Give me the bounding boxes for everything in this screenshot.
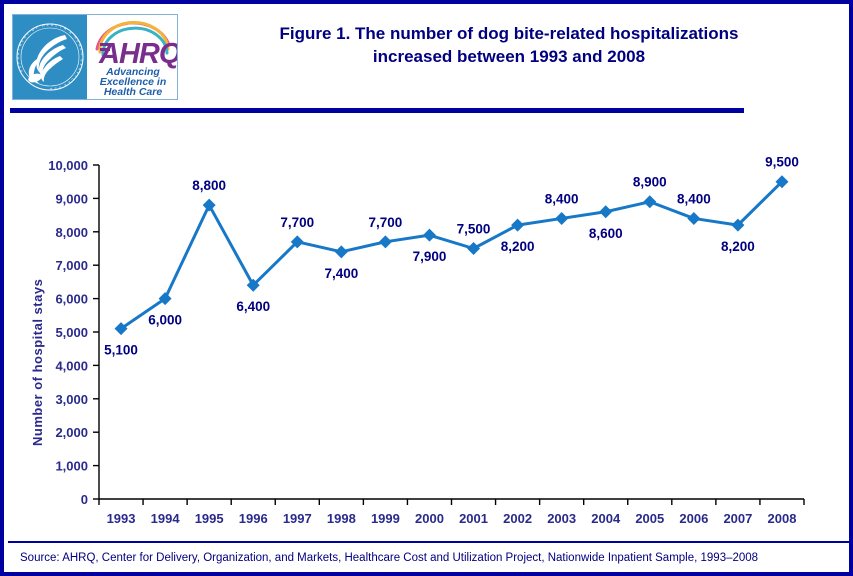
data-point-label: 8,400 <box>545 191 579 206</box>
y-axis-tick-label: 7,000 <box>55 258 88 273</box>
data-point-label: 6,000 <box>148 313 182 328</box>
data-point-marker[interactable] <box>643 195 656 208</box>
data-point-marker[interactable] <box>687 212 700 225</box>
x-axis-tick-label: 2005 <box>635 511 664 526</box>
x-axis-tick-label: 2004 <box>591 511 621 526</box>
data-point-label: 6,400 <box>236 299 270 314</box>
y-axis-tick-label: 6,000 <box>55 292 88 307</box>
data-point-marker[interactable] <box>335 245 348 258</box>
y-axis-tick-label: 9,000 <box>55 191 88 206</box>
data-point-label: 8,400 <box>677 191 711 206</box>
svg-text:Health Care: Health Care <box>104 86 163 98</box>
figure-header: D E P A R T M E N T O F H E A <box>4 4 849 104</box>
data-point-marker[interactable] <box>203 199 216 212</box>
svg-text:R: R <box>16 52 20 55</box>
svg-text:L: L <box>55 24 58 28</box>
x-axis-tick-label: 2001 <box>459 511 488 526</box>
data-point-label: 8,800 <box>192 178 226 193</box>
svg-text:E: E <box>67 80 71 85</box>
x-axis-tick-label: 1994 <box>151 511 181 526</box>
y-axis-tick-labels: 01,0002,0003,0004,0005,0006,0007,0008,00… <box>48 158 99 507</box>
hhs-seal-icon: D E P A R T M E N T O F H E A <box>13 15 87 99</box>
series-data-labels: 5,1006,0008,8006,4007,7007,4007,7007,900… <box>104 155 799 358</box>
x-axis-tick-label: 2008 <box>768 511 797 526</box>
svg-text:A: A <box>51 23 54 27</box>
y-axis-tick-label: 0 <box>81 492 88 507</box>
svg-text:E: E <box>79 63 83 66</box>
data-point-label: 8,600 <box>589 226 623 241</box>
x-axis-tick-labels: 1993199419951996199719981999200020012002… <box>99 499 804 526</box>
y-axis-tick-label: 4,000 <box>55 358 88 373</box>
figure-title: Figure 1. The number of dog bite-related… <box>194 22 824 68</box>
data-point-label: 8,900 <box>633 175 667 190</box>
line-chart: Number of hospital stays 01,0002,0003,00… <box>4 116 849 536</box>
x-axis-tick-label: 1997 <box>283 511 312 526</box>
svg-text:T: T <box>59 25 62 29</box>
svg-text:E: E <box>46 23 49 27</box>
data-point-marker[interactable] <box>379 235 392 248</box>
data-point-label: 9,500 <box>765 155 799 170</box>
data-point-marker[interactable] <box>423 229 436 242</box>
y-axis-title: Number of hospital stays <box>30 279 45 446</box>
svg-text:H: H <box>73 35 78 39</box>
y-axis-tick-label: 3,000 <box>55 392 88 407</box>
x-axis-tick-label: 1993 <box>107 511 136 526</box>
x-axis-tick-label: 1999 <box>371 511 400 526</box>
data-point-label: 7,900 <box>413 249 447 264</box>
x-axis-tick-label: 1996 <box>239 511 268 526</box>
title-divider <box>10 108 744 113</box>
data-point-label: 7,400 <box>324 266 358 281</box>
data-point-marker[interactable] <box>599 205 612 218</box>
x-axis-tick-label: 2000 <box>415 511 444 526</box>
data-point-label: 8,200 <box>501 239 535 254</box>
x-axis-tick-label: 1998 <box>327 511 356 526</box>
footer-divider <box>8 541 849 543</box>
svg-text:T: T <box>17 48 21 51</box>
ahrq-wordmark: AHRQ Advancing Excellence in Health Care <box>87 15 177 99</box>
source-note: Source: AHRQ, Center for Delivery, Organ… <box>20 552 758 564</box>
data-point-label: 8,200 <box>721 239 755 254</box>
data-point-marker[interactable] <box>467 242 480 255</box>
figure-title-line-1: Figure 1. The number of dog bite-related… <box>194 22 824 45</box>
y-axis-tick-label: 10,000 <box>48 158 88 173</box>
data-point-label: 7,700 <box>280 215 314 230</box>
figure-page: D E P A R T M E N T O F H E A <box>0 0 853 576</box>
x-axis-tick-label: 1995 <box>195 511 224 526</box>
x-axis-tick-label: 2003 <box>547 511 576 526</box>
figure-title-line-2: increased between 1993 and 2008 <box>194 45 824 68</box>
y-axis-tick-label: 1,000 <box>55 459 88 474</box>
data-point-marker[interactable] <box>555 212 568 225</box>
x-axis-tick-label: 2006 <box>679 511 708 526</box>
y-axis-tick-label: 8,000 <box>55 225 88 240</box>
ahrq-logo: D E P A R T M E N T O F H E A <box>12 14 178 100</box>
y-axis-tick-label: 2,000 <box>55 425 88 440</box>
x-axis-tick-label: 2002 <box>503 511 532 526</box>
svg-text:Number of hospital stays: Number of hospital stays <box>30 279 45 446</box>
data-point-label: 7,700 <box>369 215 403 230</box>
data-point-marker[interactable] <box>511 219 524 232</box>
data-point-label: 5,100 <box>104 343 138 358</box>
y-axis-tick-label: 5,000 <box>55 325 88 340</box>
svg-text:S: S <box>80 59 84 62</box>
data-point-label: 7,500 <box>457 222 491 237</box>
x-axis-tick-label: 2007 <box>723 511 752 526</box>
